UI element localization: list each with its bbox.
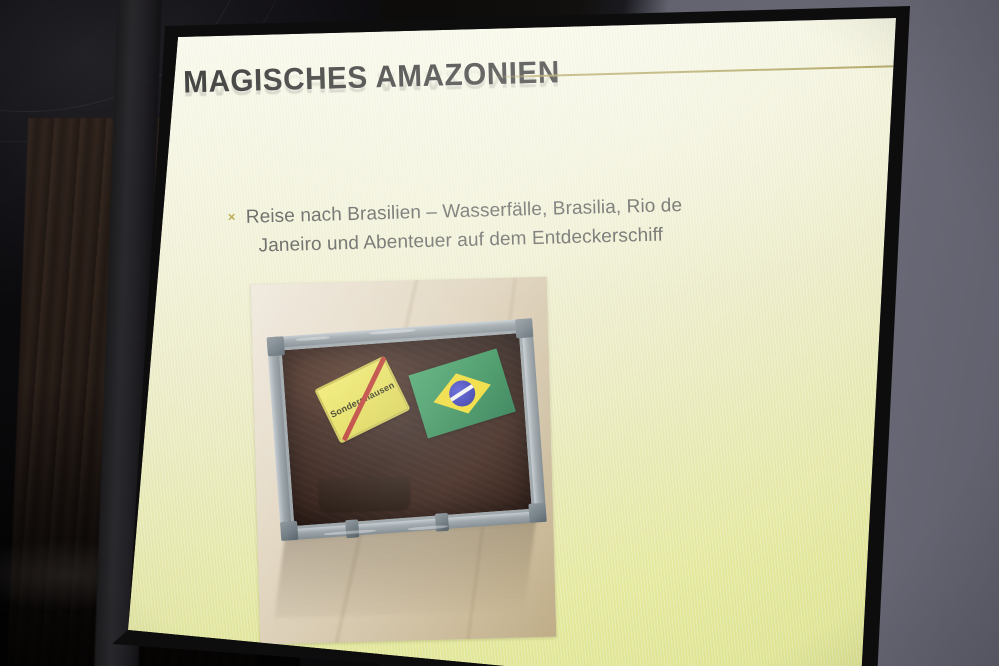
bullet-text: Reise nach Brasilien – Wasserfälle, Bras… (245, 189, 748, 261)
bullet-list-item: × Reise nach Brasilien – Wasserfälle, Br… (227, 189, 748, 261)
photo-haze (251, 277, 557, 645)
projected-slide-photo: MAGISCHES AMAZONIEN MAGISCHES AMAZONIEN … (0, 0, 999, 666)
slide-title-block: MAGISCHES AMAZONIEN MAGISCHES AMAZONIEN (183, 49, 745, 138)
bullet-marker-icon: × (227, 203, 246, 231)
slide-body-block: × Reise nach Brasilien – Wasserfälle, Br… (227, 189, 748, 261)
slide-image: Sondershausen (251, 277, 557, 645)
